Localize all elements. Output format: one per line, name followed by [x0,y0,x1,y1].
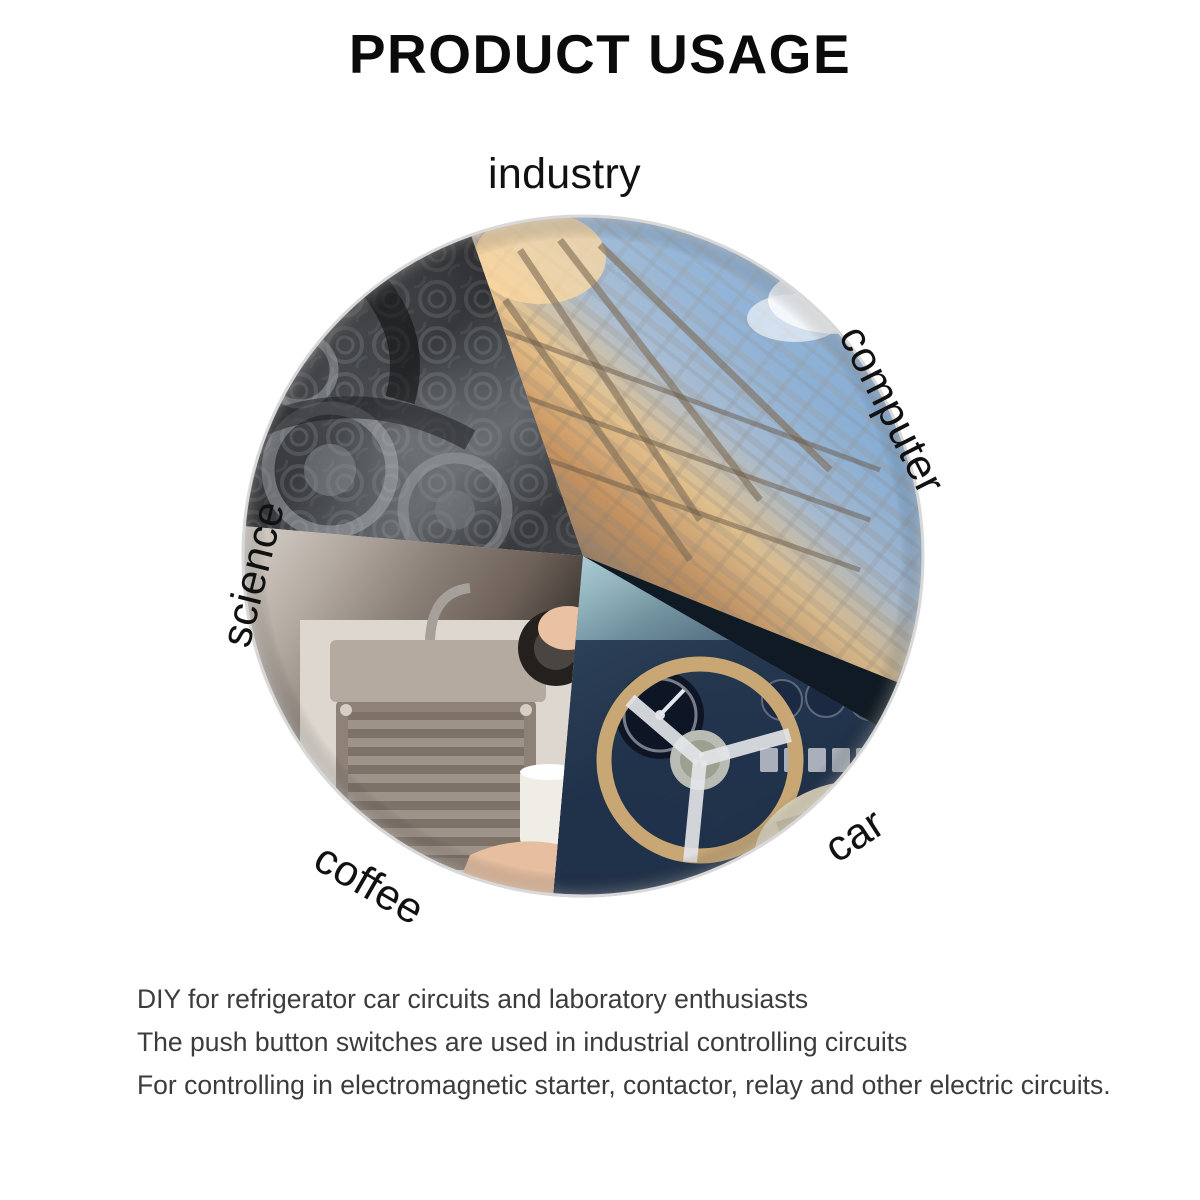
pie-svg [0,0,1200,960]
product-usage-pie-chart: industry computer science coffee car [0,0,1200,960]
usage-note-line: For controlling in electromagnetic start… [137,1064,1157,1107]
pie-rim-shadow [242,215,924,897]
usage-notes: DIY for refrigerator car circuits and la… [137,978,1157,1107]
pie-label-industry: industry [488,150,641,199]
usage-note-line: DIY for refrigerator car circuits and la… [137,978,1157,1021]
usage-note-line: The push button switches are used in ind… [137,1021,1157,1064]
